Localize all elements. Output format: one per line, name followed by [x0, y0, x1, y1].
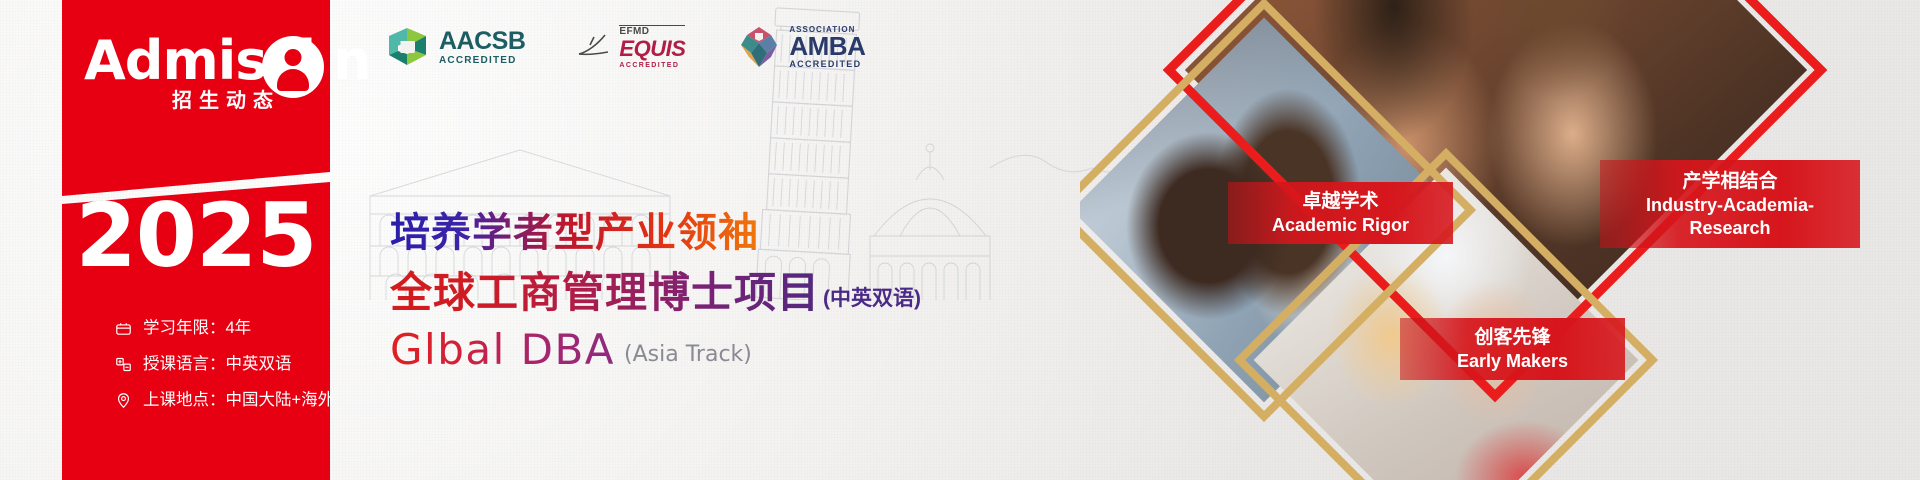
- info-item-location-text: 上课地点：中国大陆+海外: [143, 390, 334, 410]
- info-item-duration-text: 学习年限：4年: [143, 318, 251, 338]
- photo-cluster: 卓越学术 Academic Rigor 产学相结合 Industry-Acade…: [1080, 0, 1920, 480]
- equis-text: EFMD EQUIS ACCREDITED: [619, 25, 685, 69]
- accreditation-aacsb: AACSB ACCREDITED: [385, 24, 525, 70]
- headline-program-language-note: (中英双语): [823, 284, 921, 314]
- language-icon: [114, 355, 132, 373]
- admission-wordmark: Admissi n: [84, 30, 370, 92]
- ribbon-academic-cn: 卓越学术: [1240, 189, 1441, 214]
- ribbon-industry-en: Industry-Academia-Research: [1612, 194, 1848, 240]
- amba-name: AMBA: [789, 34, 865, 58]
- ribbon-makers-en: Early Makers: [1412, 350, 1613, 373]
- ribbon-industry-academia: 产学相结合 Industry-Academia-Research: [1600, 160, 1860, 248]
- location-pin-icon: [114, 391, 132, 409]
- headline-program-name: 全球工商管理博士项目: [390, 269, 820, 317]
- aacsb-logo-icon: [385, 24, 431, 70]
- year-label: 2025: [62, 188, 330, 284]
- aacsb-sub: ACCREDITED: [439, 56, 525, 66]
- amba-text: ASSOCIATION AMBA ACCREDITED: [789, 26, 865, 69]
- accreditation-equis: EFMD EQUIS ACCREDITED: [577, 25, 685, 69]
- equis-sub: ACCREDITED: [619, 62, 685, 69]
- ribbon-early-makers: 创客先锋 Early Makers: [1400, 318, 1625, 380]
- equis-name: EQUIS: [619, 38, 685, 60]
- aacsb-text: AACSB ACCREDITED: [439, 29, 525, 66]
- headline-block: 培养学者型产业领袖 全球工商管理博士项目 (中英双语) Glbal DBA (A…: [390, 210, 921, 374]
- ribbon-makers-cn: 创客先锋: [1412, 325, 1613, 350]
- info-item-duration: 学习年限：4年: [114, 318, 334, 338]
- accreditation-amba: ASSOCIATION AMBA ACCREDITED: [737, 25, 865, 69]
- left-red-panel: Admissi n 招生动态 2025 学习年限：4年: [62, 0, 330, 480]
- info-item-location: 上课地点：中国大陆+海外: [114, 390, 334, 410]
- admission-banner: Admissi n 招生动态 2025 学习年限：4年: [0, 0, 1920, 480]
- info-item-language: 授课语言：中英双语: [114, 354, 334, 374]
- ribbon-academic-rigor: 卓越学术 Academic Rigor: [1228, 182, 1453, 244]
- headline-tagline: 培养学者型产业领袖: [390, 210, 921, 256]
- headline-program-row: 全球工商管理博士项目 (中英双语): [390, 269, 921, 317]
- ribbon-academic-en: Academic Rigor: [1240, 214, 1441, 237]
- amba-sub: ACCREDITED: [789, 60, 865, 69]
- headline-program-name-en: Glbal DBA: [390, 326, 615, 374]
- amba-logo-icon: [737, 25, 781, 69]
- person-avatar-icon: [262, 36, 324, 98]
- ribbon-industry-cn: 产学相结合: [1612, 169, 1848, 194]
- headline-program-track-note: (Asia Track): [624, 340, 752, 370]
- equis-swoosh-icon: [577, 32, 611, 62]
- headline-program-en-row: Glbal DBA (Asia Track): [390, 326, 921, 374]
- aacsb-name: AACSB: [439, 29, 525, 54]
- avatar-body: [277, 69, 309, 91]
- program-info-list: 学习年限：4年 授课语言：中英双语: [114, 318, 334, 410]
- avatar-head: [285, 49, 302, 66]
- accreditation-logos: AACSB ACCREDITED EFMD EQUIS ACCREDITED: [385, 24, 865, 70]
- admission-logo: Admissi n 招生动态: [84, 30, 330, 126]
- admission-logo-chinese: 招生动态: [172, 84, 280, 113]
- calendar-icon: [114, 319, 132, 337]
- info-item-language-text: 授课语言：中英双语: [143, 354, 292, 374]
